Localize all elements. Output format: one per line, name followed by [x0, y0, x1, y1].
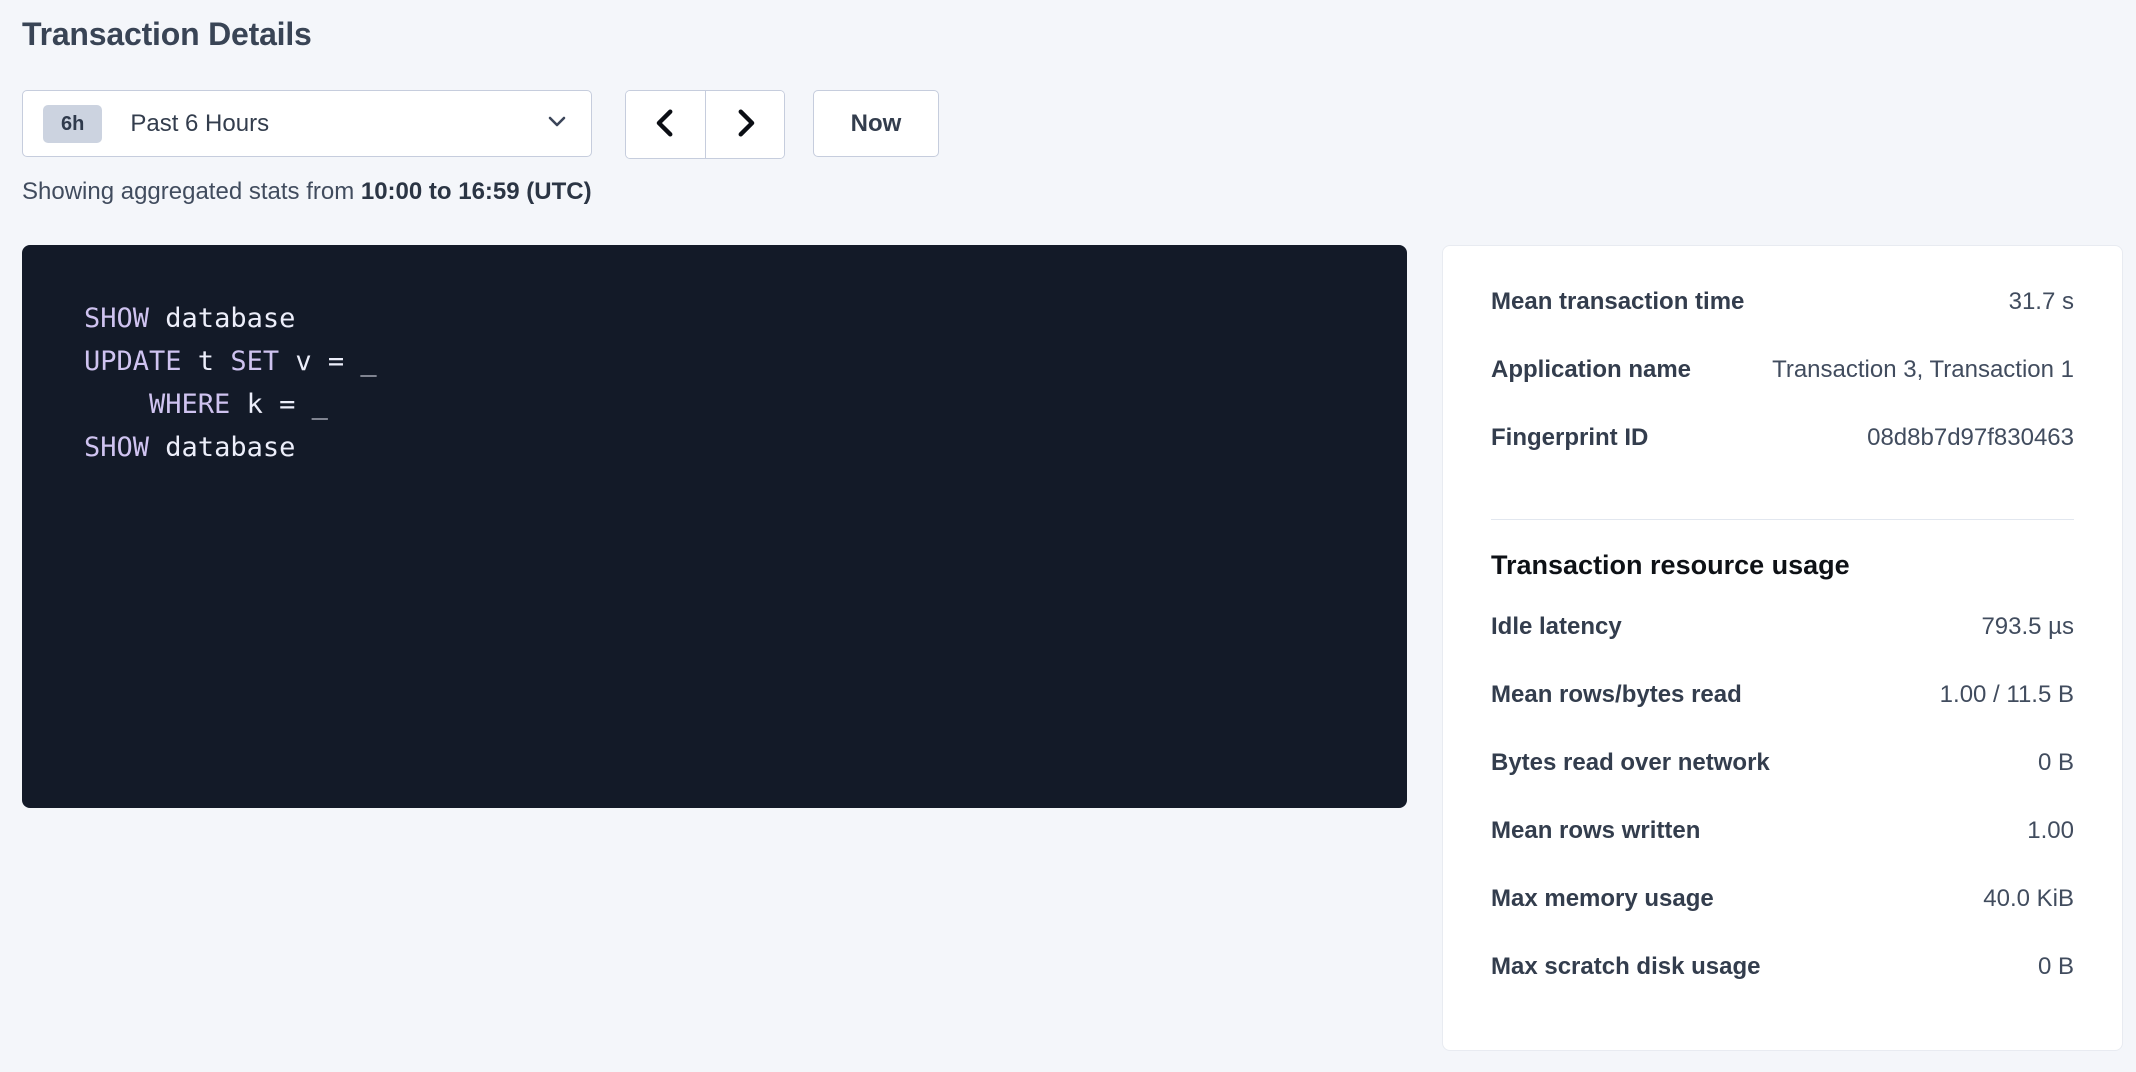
stat-value: 40.0 KiB	[1983, 885, 2074, 913]
sql-code-line: WHERE k = _	[84, 383, 1407, 426]
sql-keyword: SHOW	[84, 303, 149, 334]
time-range-label: Past 6 Hours	[130, 110, 545, 138]
stat-value: 08d8b7d97f830463	[1867, 424, 2074, 452]
stat-label: Max scratch disk usage	[1491, 953, 1760, 981]
resource-usage-heading: Transaction resource usage	[1491, 550, 2074, 581]
sql-code-line: SHOW database	[84, 426, 1407, 469]
stat-label: Application name	[1491, 356, 1691, 384]
sql-identifier	[149, 432, 165, 463]
stat-value: 1.00 / 11.5 B	[1940, 681, 2074, 709]
caption-prefix: Showing aggregated stats from	[22, 178, 361, 205]
stat-value: 1.00	[2027, 817, 2074, 845]
stat-label: Fingerprint ID	[1491, 424, 1648, 452]
stat-label: Max memory usage	[1491, 885, 1714, 913]
sql-keyword: SHOW	[84, 432, 149, 463]
stat-row: Idle latency793.5 µs	[1491, 613, 2074, 681]
stat-value: Transaction 3, Transaction 1	[1772, 356, 2074, 384]
aggregation-caption: Showing aggregated stats from 10:00 to 1…	[22, 178, 592, 206]
time-range-toolbar: 6h Past 6 Hours	[22, 90, 939, 159]
stat-label: Bytes read over network	[1491, 749, 1770, 777]
sql-keyword: WHERE	[149, 389, 230, 420]
sql-identifier	[84, 389, 149, 420]
stat-row: Mean rows written1.00	[1491, 817, 2074, 885]
sql-identifier: k = _	[230, 389, 328, 420]
time-nav-group	[625, 90, 785, 159]
section-divider	[1491, 519, 2074, 520]
sql-code-line: UPDATE t SET v = _	[84, 340, 1407, 383]
stat-value: 0 B	[2038, 749, 2074, 777]
sql-identifier: t	[182, 346, 231, 377]
stat-label: Mean transaction time	[1491, 288, 1744, 316]
chevron-left-icon	[649, 106, 683, 143]
stat-label: Idle latency	[1491, 613, 1622, 641]
sql-identifier: database	[165, 303, 295, 334]
stat-row: Max memory usage40.0 KiB	[1491, 885, 2074, 953]
sql-code-line: SHOW database	[84, 297, 1407, 340]
stat-label: Mean rows written	[1491, 817, 1700, 845]
chevron-right-icon	[728, 106, 762, 143]
stat-value: 0 B	[2038, 953, 2074, 981]
sql-code-lines: SHOW databaseUPDATE t SET v = _ WHERE k …	[84, 297, 1407, 469]
summary-stats-list: Mean transaction time31.7 sApplication n…	[1491, 288, 2074, 492]
stat-value: 31.7 s	[2009, 288, 2074, 316]
sql-identifier	[149, 303, 165, 334]
stat-row: Fingerprint ID08d8b7d97f830463	[1491, 424, 2074, 492]
sql-code-block[interactable]: SHOW databaseUPDATE t SET v = _ WHERE k …	[22, 245, 1407, 808]
now-button[interactable]: Now	[813, 90, 939, 157]
stat-row: Mean transaction time31.7 s	[1491, 288, 2074, 356]
transaction-details-page: Transaction Details 6h Past 6 Hours	[0, 0, 2136, 1072]
sql-identifier: v = _	[279, 346, 377, 377]
time-range-badge: 6h	[43, 105, 102, 143]
time-range-select[interactable]: 6h Past 6 Hours	[22, 90, 592, 157]
stat-row: Mean rows/bytes read1.00 / 11.5 B	[1491, 681, 2074, 749]
resource-stats-list: Idle latency793.5 µsMean rows/bytes read…	[1491, 613, 2074, 1021]
stat-label: Mean rows/bytes read	[1491, 681, 1742, 709]
caption-time-range: 10:00 to 16:59 (UTC)	[361, 178, 592, 205]
stat-value: 793.5 µs	[1981, 613, 2074, 641]
prev-period-button[interactable]	[626, 91, 705, 158]
stat-row: Application nameTransaction 3, Transacti…	[1491, 356, 2074, 424]
next-period-button[interactable]	[705, 91, 784, 158]
sql-keyword: SET	[230, 346, 279, 377]
page-title: Transaction Details	[22, 16, 312, 53]
stat-row: Max scratch disk usage0 B	[1491, 953, 2074, 1021]
sql-identifier: database	[165, 432, 295, 463]
transaction-stats-card: Mean transaction time31.7 sApplication n…	[1442, 245, 2123, 1051]
stat-row: Bytes read over network0 B	[1491, 749, 2074, 817]
sql-keyword: UPDATE	[84, 346, 182, 377]
chevron-down-icon	[545, 109, 569, 138]
